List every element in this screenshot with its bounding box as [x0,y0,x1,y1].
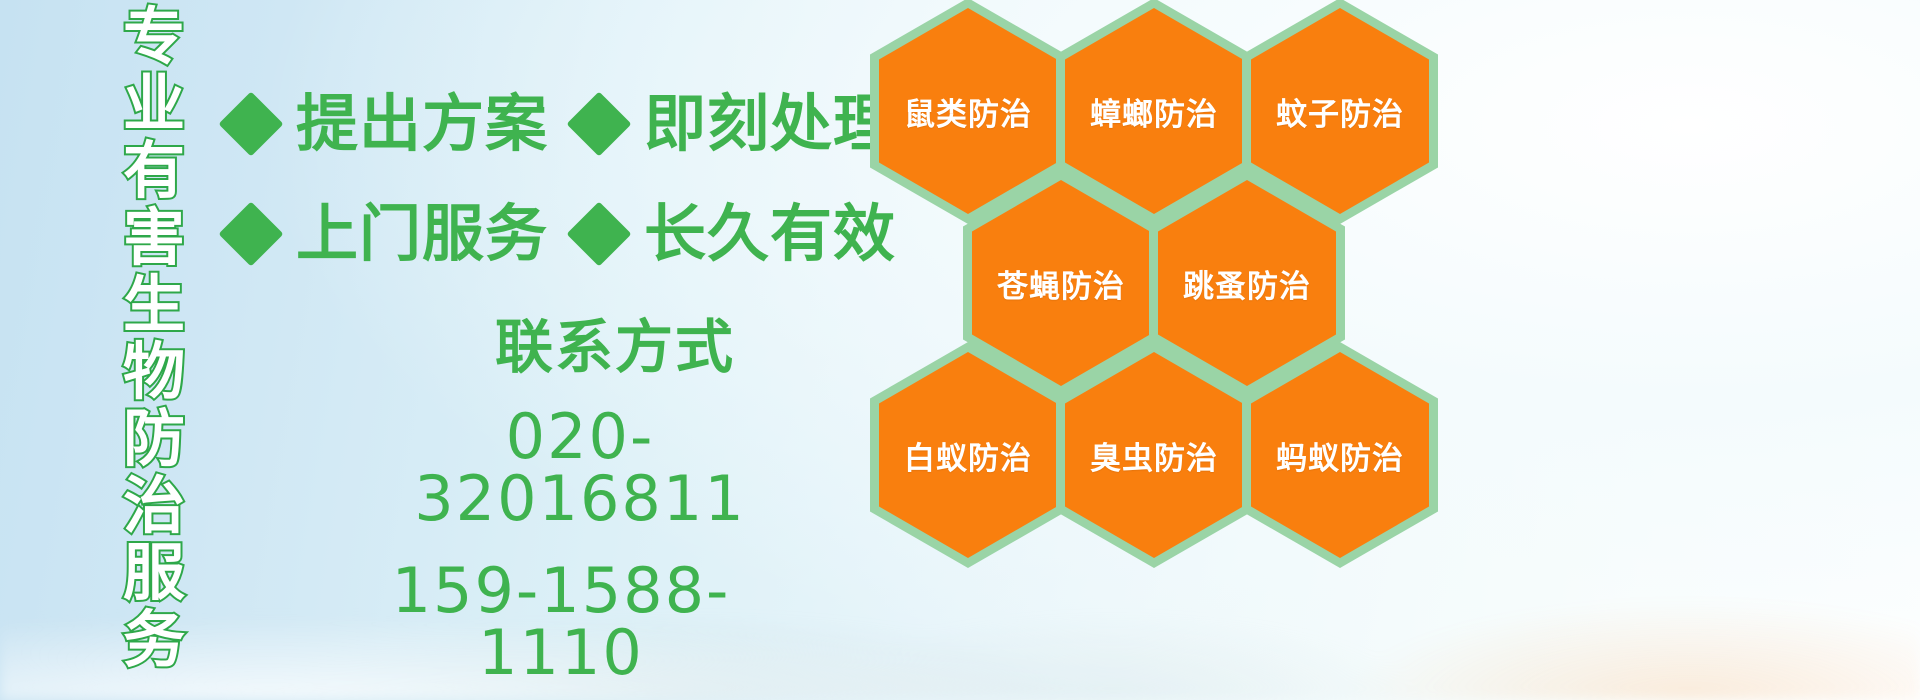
background-haze [0,580,1920,700]
diamond-icon [566,91,631,156]
service-label: 跳蚤防治 [1183,261,1311,306]
feature-label: 上门服务 [296,203,548,265]
feature-row: 上门服务 长久有效 [228,184,868,284]
phone-mobile[interactable]: 159-1588-1110 [322,560,800,684]
diamond-icon [218,91,283,156]
service-label: 蚂蚁防治 [1276,433,1404,478]
diamond-icon [566,201,631,266]
feature-label: 提出方案 [296,93,548,155]
contact-title: 联系方式 [430,318,800,376]
vertical-slogan-char: 物 [123,341,185,403]
vertical-slogan-char: 务 [123,609,185,671]
vertical-slogan-char: 生 [123,274,185,336]
pest-control-banner: 专 业 有 害 生 物 防 治 服 务 提出方案 即刻处理 上门服务 长久有效 … [0,0,1920,700]
vertical-slogan-char: 治 [123,475,185,537]
service-label: 鼠类防治 [904,89,1032,134]
feature-row: 提出方案 即刻处理 [228,74,868,174]
vertical-slogan-char: 害 [123,207,185,269]
vertical-slogan: 专 业 有 害 生 物 防 治 服 务 [104,6,204,586]
contact-block: 联系方式 020-32016811 159-1588-1110 [300,318,800,684]
vertical-slogan-char: 业 [123,73,185,135]
service-label: 臭虫防治 [1090,433,1218,478]
service-honeycomb: 鼠类防治 蟑螂防治 蚊子防治 苍蝇防治 跳蚤防治 白蚁防治 臭虫防治 蚂蚁 [862,0,1482,546]
vertical-slogan-char: 防 [123,408,185,470]
vertical-slogan-char: 有 [123,140,185,202]
diamond-icon [218,201,283,266]
service-label: 白蚁防治 [904,433,1032,478]
service-label: 苍蝇防治 [997,261,1125,306]
service-label: 蚊子防治 [1276,89,1404,134]
phone-landline[interactable]: 020-32016811 [360,406,800,530]
feature-label: 即刻处理 [644,93,896,155]
feature-label: 长久有效 [644,203,896,265]
service-label: 蟑螂防治 [1090,89,1218,134]
feature-list: 提出方案 即刻处理 上门服务 长久有效 [228,74,868,284]
vertical-slogan-char: 服 [123,542,185,604]
vertical-slogan-char: 专 [123,6,185,68]
